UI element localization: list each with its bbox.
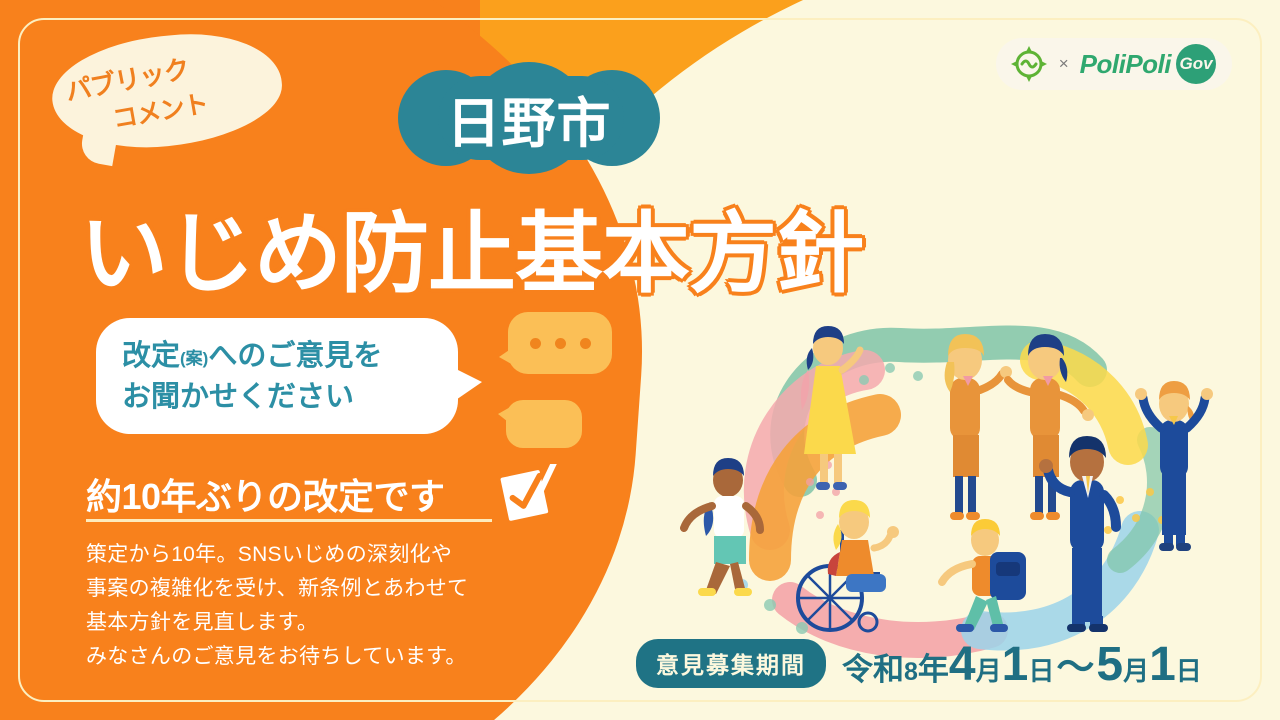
balloon-line1-a: 改定 xyxy=(122,340,180,372)
opinion-balloon-text: 改定(案)へのご意見を お聞かせください xyxy=(122,336,382,418)
chat-bubble-dots xyxy=(508,312,612,374)
period-end-day: 1 xyxy=(1149,641,1176,689)
period-end-month: 5 xyxy=(1096,641,1123,689)
chat-dot-2 xyxy=(555,338,566,349)
period-label-badge: 意見募集期間 xyxy=(636,639,826,688)
period-tilde: 〜 xyxy=(1054,636,1096,691)
chat-bubble-small xyxy=(506,400,582,448)
body-line-2: 事案の複雑化を受け、新条例とあわせて xyxy=(86,572,468,606)
submission-period: 意見募集期間 令和8年4月1日〜5月1日 xyxy=(636,636,1202,691)
balloon-line1-ruby: (案) xyxy=(180,349,208,368)
polipoli-wordmark: PoliPoli xyxy=(1080,49,1171,80)
period-date-range: 令和8年4月1日〜5月1日 xyxy=(842,636,1202,691)
poster-canvas: パブリック コメント 日野市 いじめ防止基本方針 改定(案)へのご意見を お聞か… xyxy=(0,0,1280,720)
period-start-month: 4 xyxy=(949,641,976,689)
body-line-1: 策定から10年。SNSいじめの深刻化や xyxy=(86,538,468,572)
chat-bubble-small-tail xyxy=(498,406,512,425)
period-start-day: 1 xyxy=(1002,641,1029,689)
gov-badge: Gov xyxy=(1176,44,1216,84)
city-badge-label: 日野市 xyxy=(398,62,660,174)
period-end-month-unit: 月 xyxy=(1123,651,1149,688)
balloon-line1-b: へのご意見を xyxy=(208,340,382,372)
period-era-year: 8 xyxy=(904,658,918,687)
subheading-underline xyxy=(86,519,492,522)
revision-subheading: 約10年ぶりの改定です xyxy=(86,468,445,520)
period-year-unit: 年 xyxy=(918,644,949,689)
period-start-day-unit: 日 xyxy=(1028,651,1054,688)
compass-icon xyxy=(1010,45,1048,83)
chat-bubble-dots-tail xyxy=(499,346,515,366)
balloon-line2: お聞かせください xyxy=(122,381,354,413)
chat-dot-3 xyxy=(580,338,591,349)
page-title: いじめ防止基本方針 xyxy=(80,183,863,310)
chat-dot-1 xyxy=(530,338,541,349)
opinion-balloon-tail xyxy=(450,366,482,404)
period-end-day-unit: 日 xyxy=(1176,651,1202,688)
period-era: 令和 xyxy=(842,644,904,689)
city-name-badge: 日野市 xyxy=(398,62,660,174)
period-start-month-unit: 月 xyxy=(976,651,1002,688)
logo-separator-x: × xyxy=(1059,54,1069,74)
body-paragraph: 策定から10年。SNSいじめの深刻化や 事案の複雑化を受け、新条例とあわせて 基… xyxy=(86,538,468,674)
body-line-3: 基本方針を見直します。 xyxy=(86,606,468,640)
partner-logo-pill[interactable]: × PoliPoli Gov xyxy=(996,38,1232,90)
checklist-icon xyxy=(498,464,564,522)
body-line-4: みなさんのご意見をお待ちしています。 xyxy=(86,640,468,674)
opinion-request-balloon: 改定(案)へのご意見を お聞かせください xyxy=(96,318,458,434)
